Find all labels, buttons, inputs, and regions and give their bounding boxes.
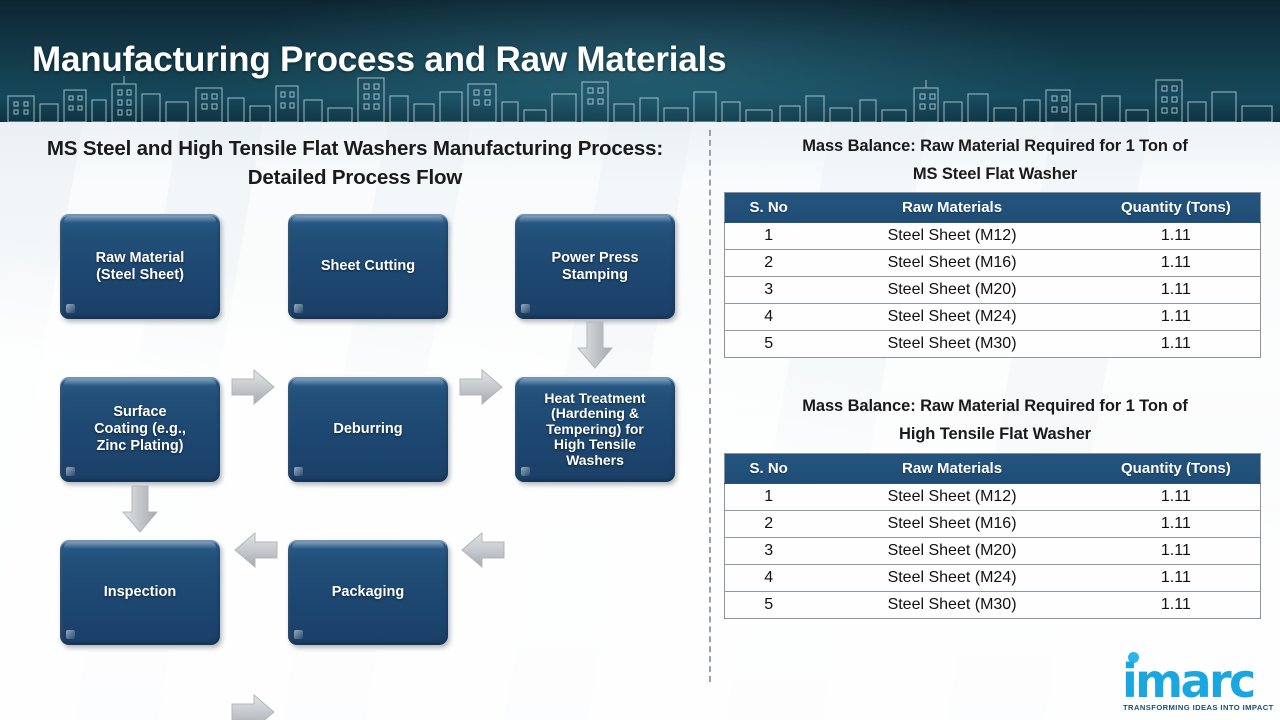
table-row: 2 Steel Sheet (M16) 1.11	[725, 511, 1261, 538]
table-row: 5 Steel Sheet (M30) 1.11	[725, 592, 1261, 619]
flow-box-raw-material[interactable]: Raw Material(Steel Sheet)	[60, 214, 220, 319]
column-header-raw-materials: Raw Materials	[812, 454, 1091, 484]
cell-quantity: 1.11	[1092, 484, 1261, 511]
cell-sno: 3	[725, 277, 813, 304]
cell-material: Steel Sheet (M24)	[812, 304, 1091, 331]
table-title-line1: Mass Balance: Raw Material Required for …	[802, 397, 1187, 415]
table-row: 5 Steel Sheet (M30) 1.11	[725, 331, 1261, 358]
arrow-down-icon	[574, 320, 616, 370]
logo-tagline: TRANSFORMING IDEAS INTO IMPACT	[1123, 703, 1274, 712]
column-header-sno: S. No	[725, 454, 813, 484]
table-row: 3 Steel Sheet (M20) 1.11	[725, 277, 1261, 304]
cell-material: Steel Sheet (M20)	[812, 277, 1091, 304]
flow-box-label: Sheet Cutting	[321, 258, 415, 275]
table-header-row: S. No Raw Materials Quantity (Tons)	[725, 193, 1261, 223]
table-header-row: S. No Raw Materials Quantity (Tons)	[725, 454, 1261, 484]
flow-box-label: Heat Treatment(Hardening &Tempering) for…	[544, 391, 645, 469]
flow-box-packaging[interactable]: Packaging	[288, 540, 448, 645]
flow-box-label: SurfaceCoating (e.g.,Zinc Plating)	[94, 404, 186, 455]
cell-quantity: 1.11	[1092, 331, 1261, 358]
flow-box-sheet-cutting[interactable]: Sheet Cutting	[288, 214, 448, 319]
cell-material: Steel Sheet (M24)	[812, 565, 1091, 592]
cell-quantity: 1.11	[1092, 304, 1261, 331]
cell-material: Steel Sheet (M30)	[812, 592, 1091, 619]
mass-balance-panel: Mass Balance: Raw Material Required for …	[709, 122, 1280, 720]
mass-balance-table-ms-steel: S. No Raw Materials Quantity (Tons) 1 St…	[724, 192, 1261, 358]
slide: Manufacturing Process and Raw Materials …	[0, 0, 1280, 720]
cell-quantity: 1.11	[1092, 565, 1261, 592]
table-row: 2 Steel Sheet (M16) 1.11	[725, 250, 1261, 277]
table-row: 4 Steel Sheet (M24) 1.11	[725, 304, 1261, 331]
process-flow-title-line1: MS Steel and High Tensile Flat Washers M…	[47, 137, 663, 160]
column-header-quantity: Quantity (Tons)	[1092, 454, 1261, 484]
flow-box-label: Raw Material(Steel Sheet)	[96, 250, 185, 284]
cell-sno: 3	[725, 538, 813, 565]
cell-material: Steel Sheet (M12)	[812, 223, 1091, 250]
table-title-high-tensile: Mass Balance: Raw Material Required for …	[725, 392, 1265, 448]
arrow-right-icon	[230, 367, 276, 407]
cell-sno: 5	[725, 331, 813, 358]
flow-box-heat-treatment[interactable]: Heat Treatment(Hardening &Tempering) for…	[515, 377, 675, 482]
table-row: 1 Steel Sheet (M12) 1.11	[725, 484, 1261, 511]
arrow-right-icon	[458, 367, 504, 407]
flow-box-label: Power PressStamping	[551, 250, 638, 284]
cell-material: Steel Sheet (M20)	[812, 538, 1091, 565]
slide-header: Manufacturing Process and Raw Materials	[0, 0, 1280, 122]
cell-sno: 5	[725, 592, 813, 619]
table-row: 3 Steel Sheet (M20) 1.11	[725, 538, 1261, 565]
arrow-left-icon	[460, 530, 506, 570]
table-title-line2: High Tensile Flat Washer	[899, 425, 1091, 443]
cell-quantity: 1.11	[1092, 538, 1261, 565]
column-header-quantity: Quantity (Tons)	[1092, 193, 1261, 223]
flow-box-inspection[interactable]: Inspection	[60, 540, 220, 645]
flow-box-label: Packaging	[332, 584, 405, 601]
arrow-down-icon	[119, 484, 161, 534]
cell-sno: 2	[725, 511, 813, 538]
cell-quantity: 1.11	[1092, 277, 1261, 304]
process-flow-title-line2: Detailed Process Flow	[248, 166, 462, 189]
arrow-left-icon	[233, 530, 279, 570]
cell-quantity: 1.11	[1092, 592, 1261, 619]
cell-quantity: 1.11	[1092, 250, 1261, 277]
cell-material: Steel Sheet (M16)	[812, 250, 1091, 277]
cell-quantity: 1.11	[1092, 223, 1261, 250]
cell-material: Steel Sheet (M30)	[812, 331, 1091, 358]
flow-box-power-press-stamping[interactable]: Power PressStamping	[515, 214, 675, 319]
arrow-right-icon	[230, 692, 276, 720]
cell-sno: 1	[725, 223, 813, 250]
table-title-line1: Mass Balance: Raw Material Required for …	[802, 137, 1187, 155]
flow-box-deburring[interactable]: Deburring	[288, 377, 448, 482]
cell-material: Steel Sheet (M12)	[812, 484, 1091, 511]
imarc-logo[interactable]: imarc TRANSFORMING IDEAS INTO IMPACT	[1122, 652, 1270, 712]
page-title: Manufacturing Process and Raw Materials	[32, 40, 726, 80]
cell-sno: 2	[725, 250, 813, 277]
process-flow-title: MS Steel and High Tensile Flat Washers M…	[30, 134, 680, 192]
logo-wordmark: imarc	[1122, 658, 1254, 704]
flow-box-label: Deburring	[333, 421, 402, 438]
column-header-raw-materials: Raw Materials	[812, 193, 1091, 223]
cell-sno: 1	[725, 484, 813, 511]
flow-box-label: Inspection	[104, 584, 177, 601]
table-title-line2: MS Steel Flat Washer	[913, 165, 1077, 183]
column-header-sno: S. No	[725, 193, 813, 223]
cell-quantity: 1.11	[1092, 511, 1261, 538]
flow-box-surface-coating[interactable]: SurfaceCoating (e.g.,Zinc Plating)	[60, 377, 220, 482]
table-row: 1 Steel Sheet (M12) 1.11	[725, 223, 1261, 250]
cell-sno: 4	[725, 565, 813, 592]
process-flow-panel: MS Steel and High Tensile Flat Washers M…	[0, 122, 709, 720]
cell-material: Steel Sheet (M16)	[812, 511, 1091, 538]
cell-sno: 4	[725, 304, 813, 331]
table-title-ms-steel: Mass Balance: Raw Material Required for …	[725, 132, 1265, 188]
mass-balance-table-high-tensile: S. No Raw Materials Quantity (Tons) 1 St…	[724, 453, 1261, 619]
table-row: 4 Steel Sheet (M24) 1.11	[725, 565, 1261, 592]
